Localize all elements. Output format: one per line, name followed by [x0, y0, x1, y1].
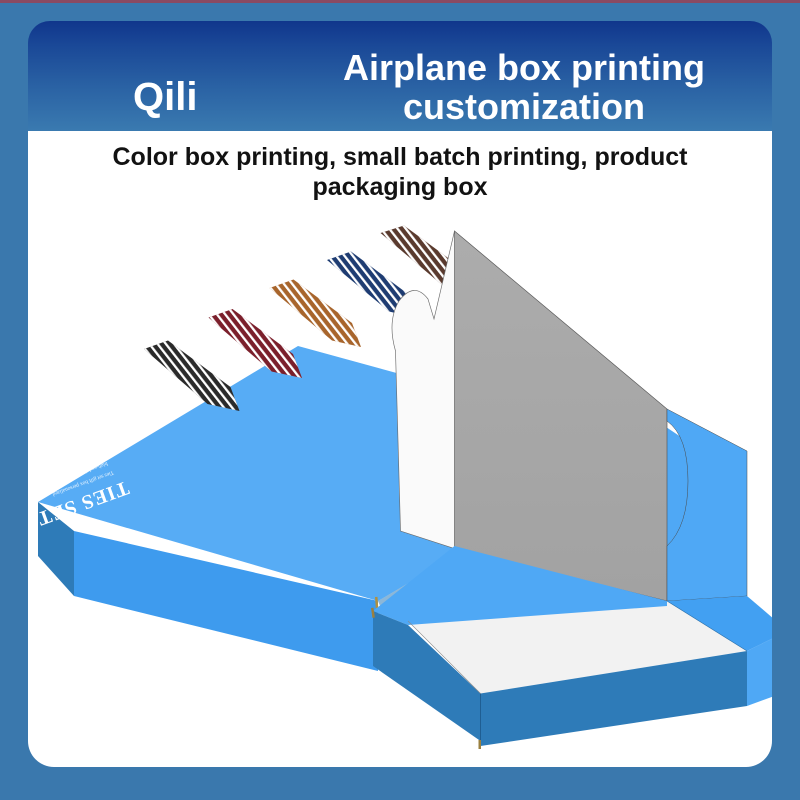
brand-name: Qili	[133, 77, 197, 117]
header-banner: Qili Airplane box printing customization	[28, 21, 772, 131]
content-panel: Color box printing, small batch printing…	[28, 131, 772, 767]
page-title: Airplane box printing customization	[276, 49, 772, 127]
open-mailer-box	[371, 231, 772, 749]
subtitle-text: Color box printing, small batch printing…	[48, 143, 752, 202]
product-illustration: QILIBAOZHUANG TIES SET Ties set gift box…	[28, 201, 772, 767]
top-accent-line	[0, 0, 800, 3]
poster-frame: Qili Airplane box printing customization…	[0, 0, 800, 800]
